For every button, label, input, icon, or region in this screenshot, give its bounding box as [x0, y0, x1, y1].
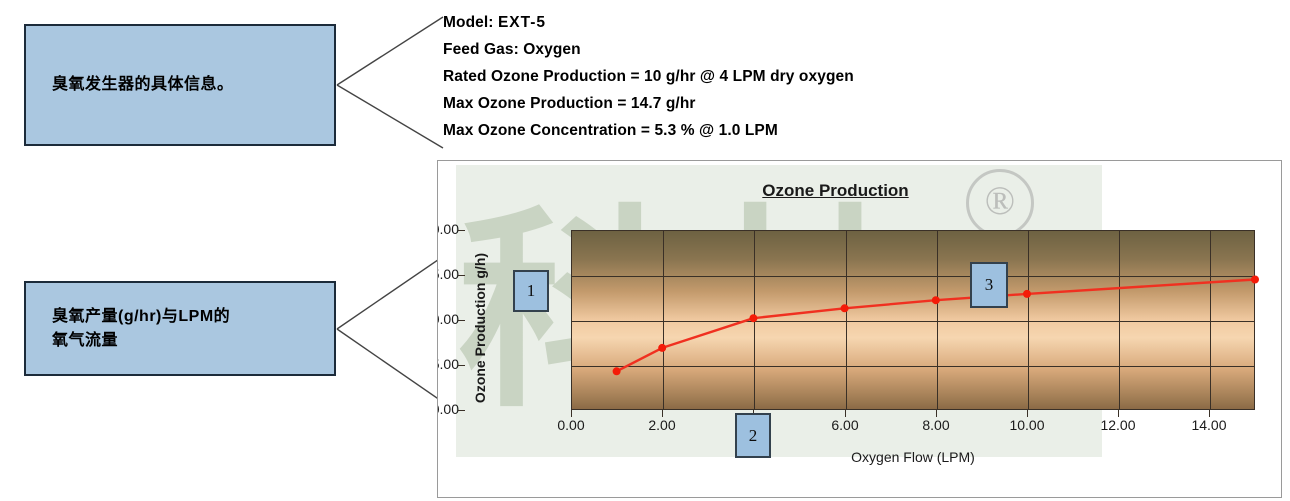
screenshot-root: 臭氧发生器的具体信息。 臭氧产量(g/hr)与LPM的 氧气流量 Model: …	[0, 0, 1290, 501]
x-tick-label-8: 8.00	[906, 417, 966, 433]
spec-model-value: EXT-5	[498, 14, 546, 31]
x-tick-mark-10	[1027, 410, 1028, 417]
ozone-production-chart: 科林 ® Ozone Production Ozone Production g…	[437, 160, 1282, 498]
x-tick-mark-2	[662, 410, 663, 417]
y-tick-label-15: 15.00	[437, 266, 459, 282]
series-marker	[658, 344, 666, 352]
spec-line-model: Model: EXT-5	[443, 14, 983, 32]
y-tick-label-10: 10.00	[437, 311, 459, 327]
x-tick-label-10: 10.00	[997, 417, 1057, 433]
registered-trademark-icon: ®	[966, 169, 1034, 237]
annotation-box-generator-info-text: 臭氧发生器的具体信息。	[26, 73, 260, 97]
spec-line-feed-gas: Feed Gas: Oxygen	[443, 41, 983, 59]
x-tick-mark-8	[936, 410, 937, 417]
y-tick-mark-0	[458, 410, 465, 411]
x-tick-mark-14	[1209, 410, 1210, 417]
spec-line-max-concentration: Max Ozone Concentration = 5.3 % @ 1.0 LP…	[443, 122, 983, 140]
y-tick-mark-5	[458, 365, 465, 366]
y-tick-label-0: 0.00	[437, 401, 459, 417]
specification-list: Model: EXT-5 Feed Gas: Oxygen Rated Ozon…	[443, 14, 983, 140]
x-tick-label-14: 14.00	[1179, 417, 1239, 433]
series-markers	[613, 276, 1259, 376]
y-tick-mark-10	[458, 320, 465, 321]
annotation-line-1: 臭氧产量(g/hr)与LPM的	[52, 305, 230, 329]
annotation-box-production-vs-flow-text: 臭氧产量(g/hr)与LPM的 氧气流量	[26, 305, 256, 353]
x-axis-title: Oxygen Flow (LPM)	[571, 449, 1255, 465]
x-tick-mark-6	[845, 410, 846, 417]
x-tick-label-2: 2.00	[632, 417, 692, 433]
annotation-box-generator-info: 臭氧发生器的具体信息。	[24, 24, 336, 146]
annotation-box-production-vs-flow: 臭氧产量(g/hr)与LPM的 氧气流量	[24, 281, 336, 376]
y-tick-label-20: 20.00	[437, 221, 459, 237]
series-marker	[1023, 290, 1031, 298]
x-tick-label-0: 0.00	[541, 417, 601, 433]
x-tick-mark-12	[1118, 410, 1119, 417]
y-axis-title: Ozone Production g/h)	[472, 228, 488, 428]
series-line	[617, 280, 1255, 372]
series-marker	[1251, 276, 1259, 284]
y-tick-mark-15	[458, 275, 465, 276]
series-marker	[749, 314, 757, 322]
x-tick-mark-0	[571, 410, 572, 417]
spec-model-label: Model:	[443, 14, 494, 31]
spec-feed-gas-label: Feed Gas:	[443, 41, 519, 58]
y-tick-mark-20	[458, 230, 465, 231]
annotation-line-2: 氧气流量	[52, 329, 230, 353]
callout-marker-3: 3	[970, 262, 1008, 308]
callout-marker-2: 2	[735, 413, 771, 458]
spec-feed-gas-value: Oxygen	[523, 41, 580, 58]
y-tick-label-5: 5.00	[437, 356, 459, 372]
data-series-ozone-production	[571, 230, 1255, 410]
callout-marker-1: 1	[513, 270, 549, 312]
series-marker	[613, 367, 621, 375]
x-tick-label-12: 12.00	[1088, 417, 1148, 433]
series-marker	[932, 296, 940, 304]
series-marker	[841, 304, 849, 312]
spec-line-rated-production: Rated Ozone Production = 10 g/hr @ 4 LPM…	[443, 68, 983, 86]
chart-title: Ozone Production	[437, 181, 1257, 201]
spec-line-max-production: Max Ozone Production = 14.7 g/hr	[443, 95, 983, 113]
x-tick-label-6: 6.00	[815, 417, 875, 433]
